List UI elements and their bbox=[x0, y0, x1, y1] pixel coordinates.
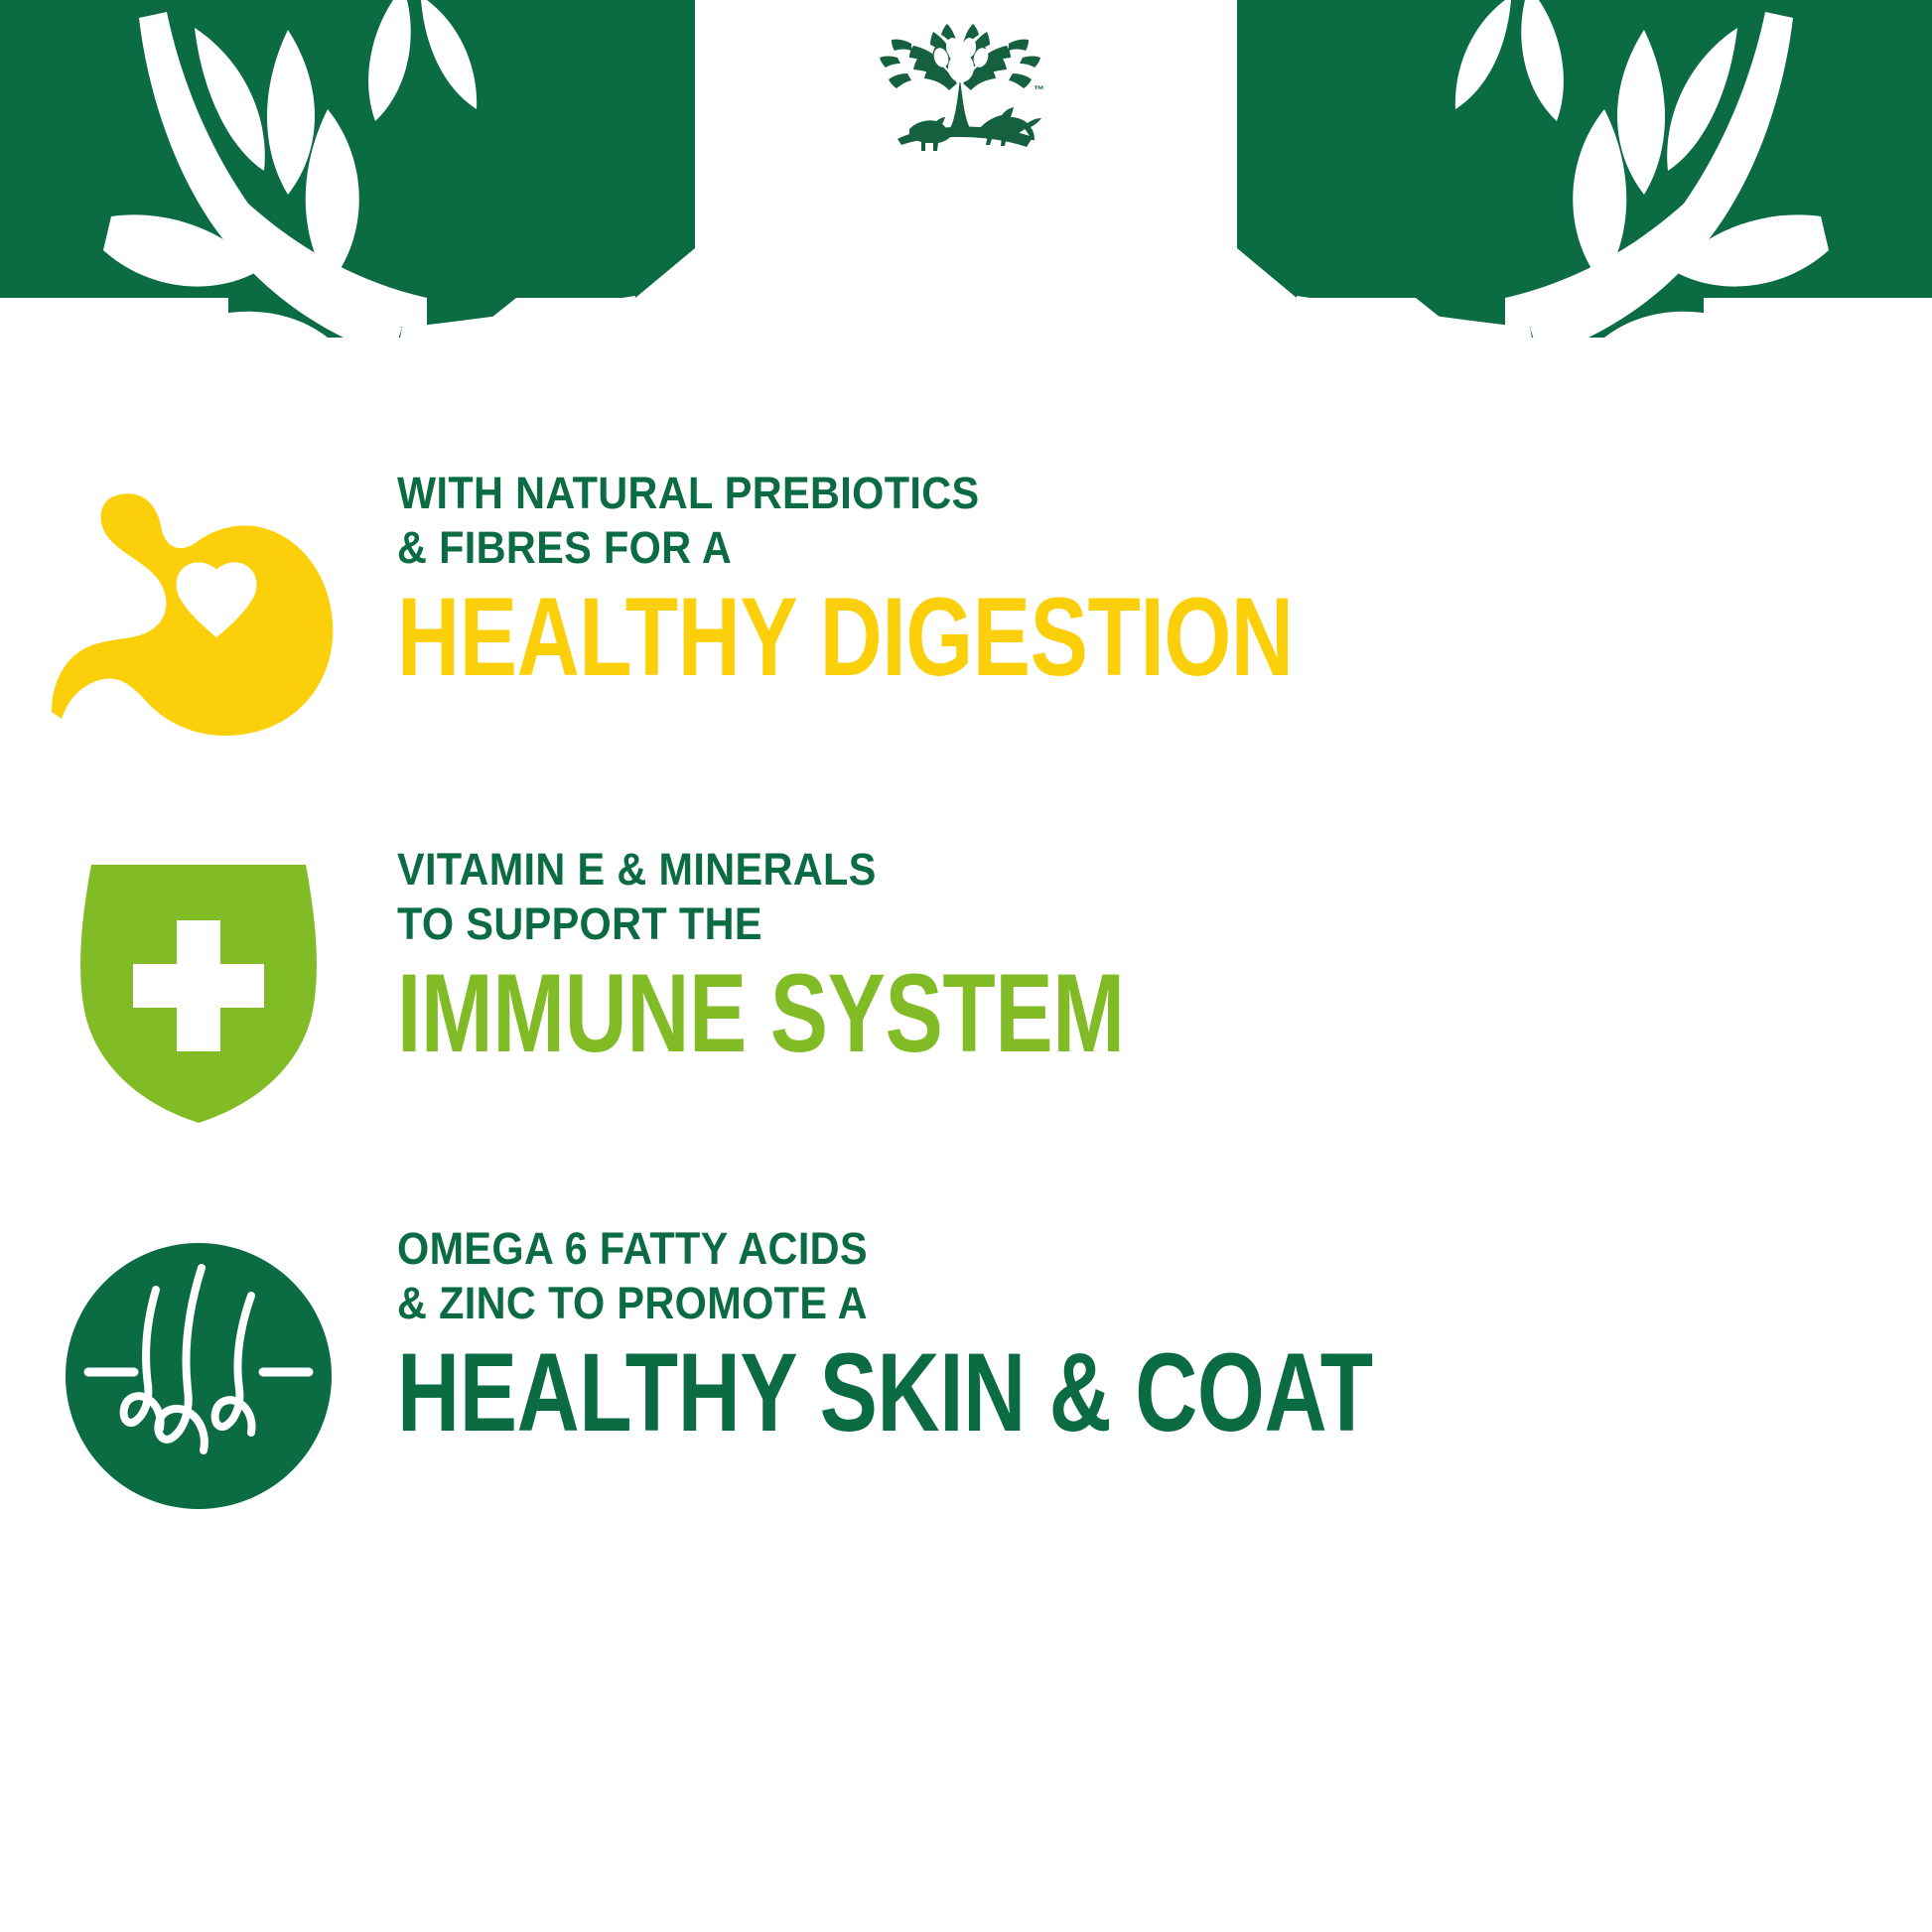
benefit-text-digestion: WITH NATURAL PREBIOTICS & FIBRES FOR A H… bbox=[397, 467, 1546, 693]
brand-logo: ™ bbox=[872, 22, 1060, 151]
stomach-heart-icon bbox=[0, 467, 397, 744]
benefit-lead-skin: OMEGA 6 FATTY ACIDS & ZINC TO PROMOTE A bbox=[397, 1222, 1548, 1331]
benefit-row-skin: OMEGA 6 FATTY ACIDS & ZINC TO PROMOTE A … bbox=[0, 1222, 1932, 1514]
shield-cross-icon bbox=[0, 843, 397, 1127]
benefit-headline-skin: HEALTHY SKIN & COAT bbox=[397, 1337, 1373, 1449]
hair-follicle-skin-icon bbox=[0, 1222, 397, 1514]
benefit-row-digestion: WITH NATURAL PREBIOTICS & FIBRES FOR A H… bbox=[0, 467, 1932, 744]
poster-canvas: ™ WITH NATURAL PREBIOTICS & FIBRES FOR A… bbox=[0, 0, 1932, 1932]
benefit-headline-digestion: HEALTHY DIGESTION bbox=[397, 582, 1294, 693]
benefit-headline-immune: IMMUNE SYSTEM bbox=[397, 958, 1125, 1069]
benefit-text-skin: OMEGA 6 FATTY ACIDS & ZINC TO PROMOTE A … bbox=[397, 1222, 1648, 1449]
benefit-text-immune: VITAMIN E & MINERALS TO SUPPORT THE IMMU… bbox=[397, 843, 1329, 1069]
benefit-lead-immune: VITAMIN E & MINERALS TO SUPPORT THE bbox=[397, 843, 1255, 952]
benefits-list: WITH NATURAL PREBIOTICS & FIBRES FOR A H… bbox=[0, 467, 1932, 1584]
benefit-lead-digestion: WITH NATURAL PREBIOTICS & FIBRES FOR A bbox=[397, 467, 1454, 576]
benefit-row-immune: VITAMIN E & MINERALS TO SUPPORT THE IMMU… bbox=[0, 843, 1932, 1127]
trademark-symbol: ™ bbox=[1034, 84, 1044, 96]
